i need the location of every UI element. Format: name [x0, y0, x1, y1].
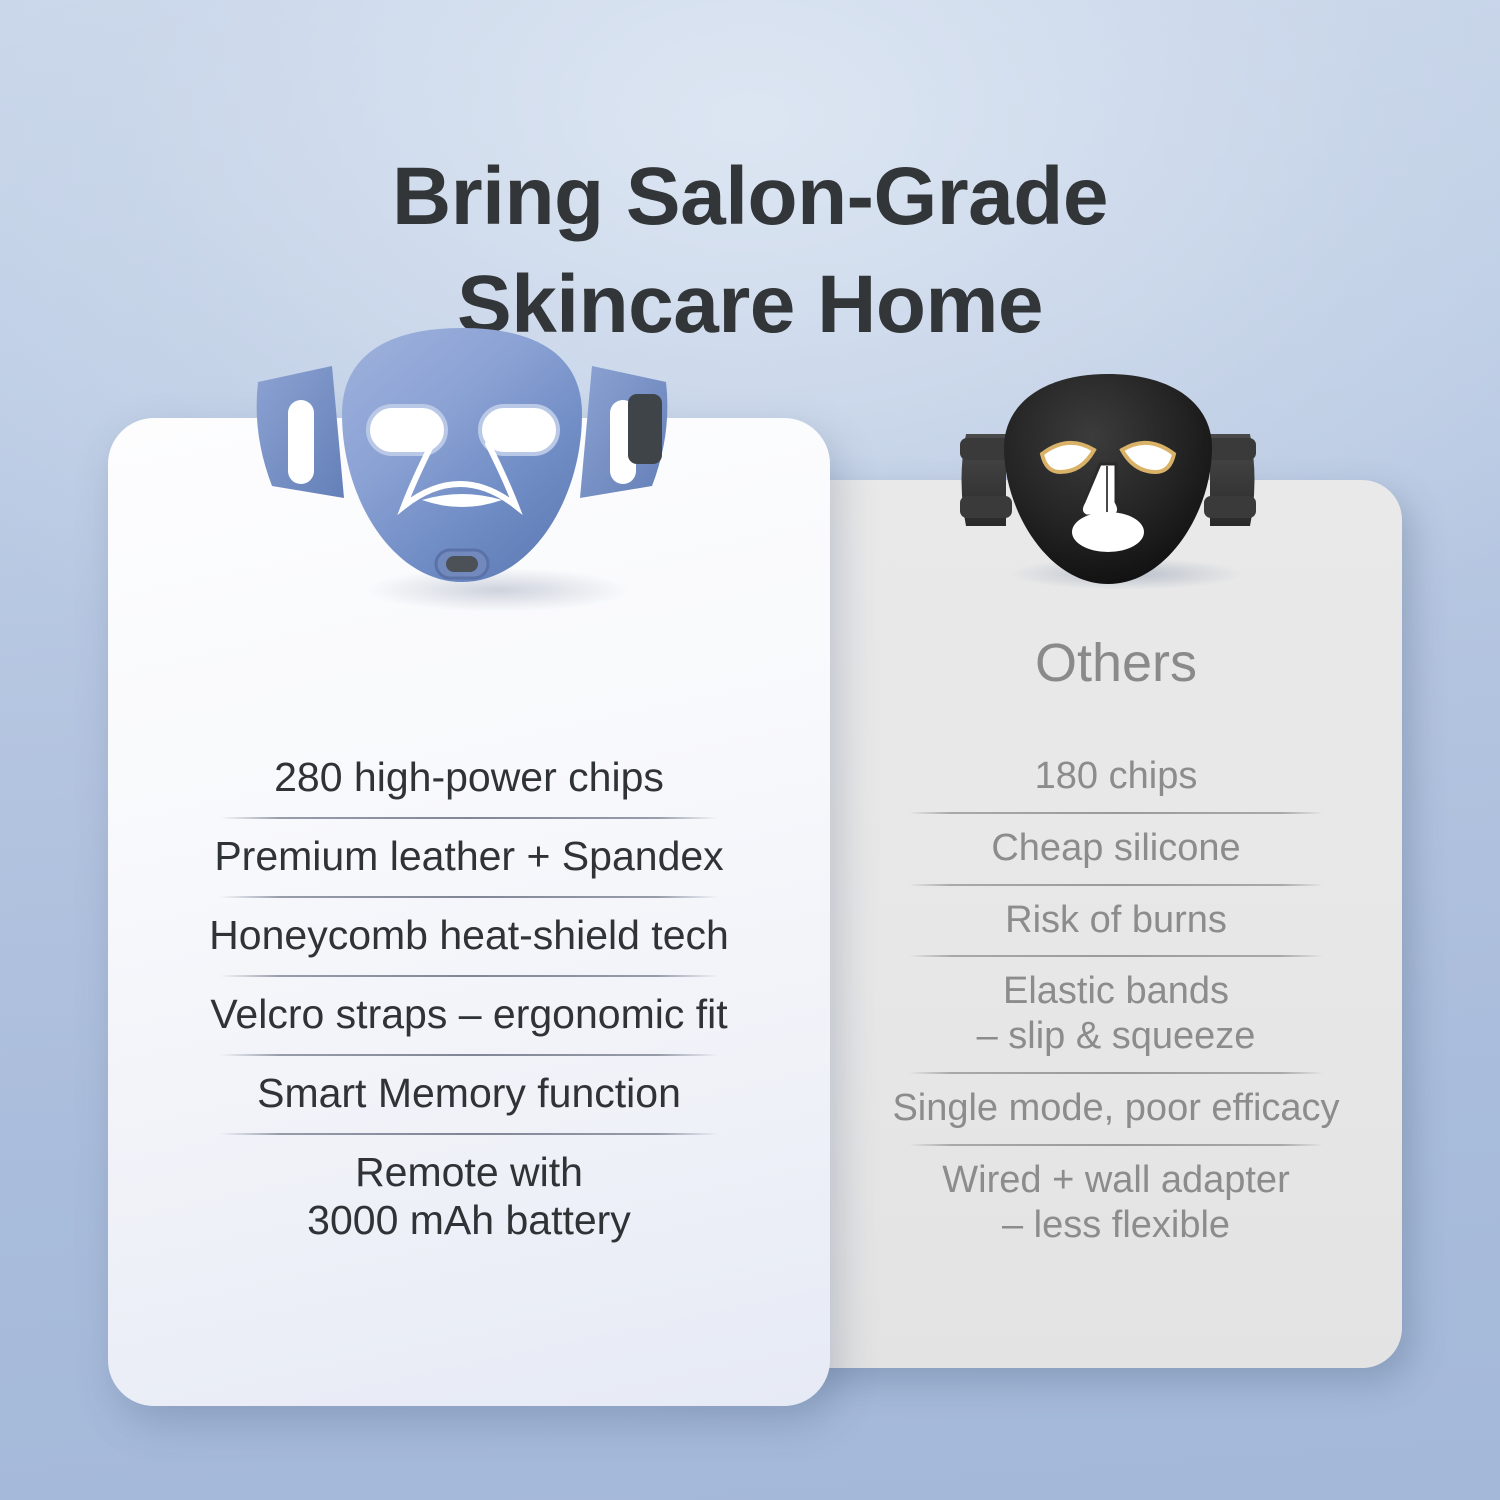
- others-heading: Others: [866, 636, 1366, 690]
- velcro-patch: [628, 394, 662, 464]
- list-item: Honeycomb heat-shield tech: [130, 898, 808, 975]
- our-product-image: [236, 322, 688, 622]
- our-feature-list: 280 high-power chips Premium leather + S…: [130, 740, 808, 1260]
- power-button-inner: [446, 556, 478, 572]
- page-title: Bring Salon-Grade Skincare Home: [0, 143, 1500, 359]
- others-feature-list: 180 chips Cheap silicone Risk of burns E…: [866, 742, 1366, 1261]
- others-product-image: [930, 368, 1286, 592]
- list-item: 280 high-power chips: [130, 740, 808, 817]
- list-item: Velcro straps – ergonomic fit: [130, 977, 808, 1054]
- list-item: Cheap silicone: [866, 814, 1366, 884]
- list-item: Premium leather + Spandex: [130, 819, 808, 896]
- product-shadow: [366, 568, 630, 612]
- list-item: Elastic bands – slip & squeeze: [866, 957, 1366, 1072]
- list-item: Smart Memory function: [130, 1056, 808, 1133]
- list-item: Risk of burns: [866, 886, 1366, 956]
- list-item: Wired + wall adapter – less flexible: [866, 1146, 1366, 1261]
- list-item: Remote with 3000 mAh battery: [130, 1135, 808, 1260]
- promo-comparison-page: Bring Salon-Grade Skincare Home Others 1…: [0, 0, 1500, 1500]
- list-item: 180 chips: [866, 742, 1366, 812]
- list-item: Single mode, poor efficacy: [866, 1074, 1366, 1144]
